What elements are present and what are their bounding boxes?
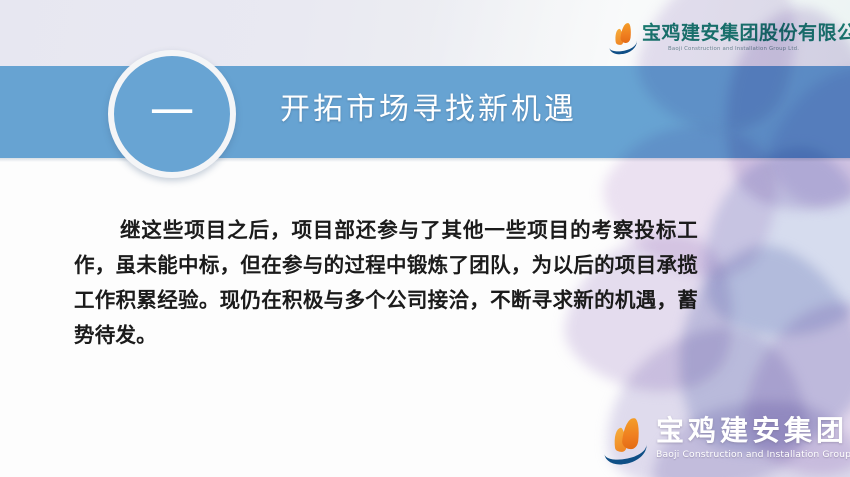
header-company-logo: 宝鸡建安集团股份有限公司 Baoji Construction and Inst… (608, 22, 844, 64)
footer-company-logo: 宝鸡建安集团 Baoji Construction and Installati… (603, 414, 847, 470)
flame-swoosh-logo-icon (603, 418, 649, 466)
presentation-slide: 宝鸡建安集团股份有限公司 Baoji Construction and Inst… (0, 0, 850, 477)
slide-title: 开拓市场寻找新机遇 (280, 88, 577, 132)
swoosh-icon (608, 33, 638, 55)
header-logo-company-en: Baoji Construction and Installation Grou… (668, 45, 799, 53)
header-logo-text: 宝鸡建安集团股份有限公司 Baoji Construction and Inst… (642, 22, 850, 53)
swoosh-icon (602, 432, 648, 466)
petal-shape (688, 139, 850, 347)
section-number-badge: 一 (108, 50, 236, 178)
footer-logo-text: 宝鸡建安集团 Baoji Construction and Installati… (656, 414, 850, 461)
footer-logo-company-cn: 宝鸡建安集团 (656, 414, 848, 447)
header-logo-company-cn: 宝鸡建安集团股份有限公司 (642, 22, 850, 44)
footer-logo-company-en: Baoji Construction and Installation Grou… (656, 449, 850, 461)
body-paragraph: 继这些项目之后，项目部还参与了其他一些项目的考察投标工作，虽未能中标，但在参与的… (74, 213, 698, 353)
section-number-label: 一 (150, 92, 194, 136)
flame-swoosh-logo-icon (608, 23, 638, 55)
